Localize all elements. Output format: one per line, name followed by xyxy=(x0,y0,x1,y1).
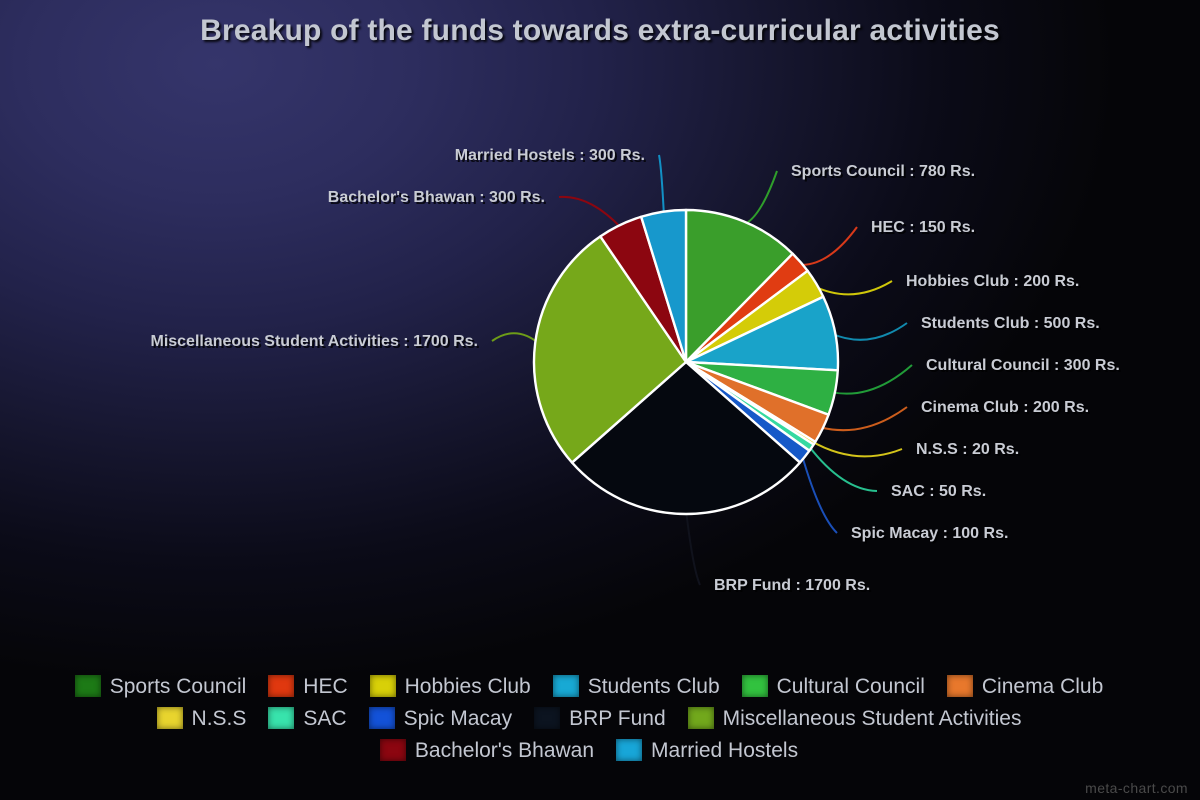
legend-item-bachelor-s-bhawan[interactable]: Bachelor's Bhawan xyxy=(380,736,594,764)
legend-item-brp-fund[interactable]: BRP Fund xyxy=(534,704,666,732)
legend-label-hobbies-club: Hobbies Club xyxy=(405,676,531,697)
leader-line-misc-student xyxy=(492,333,539,343)
pie-slices xyxy=(534,210,838,514)
legend-item-cinema-club[interactable]: Cinema Club xyxy=(947,672,1103,700)
legend-item-sports-council[interactable]: Sports Council xyxy=(75,672,247,700)
legend-label-miscellaneous-student-activities: Miscellaneous Student Activities xyxy=(723,708,1022,729)
legend-swatch-cinema-club xyxy=(947,675,973,697)
watermark: meta-chart.com xyxy=(1085,780,1188,796)
leader-line-brp-fund xyxy=(686,510,700,585)
slice-label-hobbies-club: Hobbies Club : 200 Rs. xyxy=(906,273,1079,290)
leader-line-cinema-club xyxy=(819,407,907,430)
slice-label-bachelors-bhawan: Bachelor's Bhawan : 300 Rs. xyxy=(328,189,545,206)
legend-label-spic-macay: Spic Macay xyxy=(404,708,513,729)
leader-line-hobbies-club xyxy=(813,281,892,294)
slice-label-students-club: Students Club : 500 Rs. xyxy=(921,315,1100,332)
legend-swatch-sac xyxy=(268,707,294,729)
slice-label-cinema-club: Cinema Club : 200 Rs. xyxy=(921,399,1089,416)
legend-item-students-club[interactable]: Students Club xyxy=(553,672,720,700)
leader-line-students-club xyxy=(831,323,907,340)
legend-swatch-miscellaneous-student-activities xyxy=(688,707,714,729)
slice-label-sac: SAC : 50 Rs. xyxy=(891,483,986,500)
legend-label-bachelor-s-bhawan: Bachelor's Bhawan xyxy=(415,740,594,761)
legend-label-students-club: Students Club xyxy=(588,676,720,697)
legend-swatch-spic-macay xyxy=(369,707,395,729)
slice-label-cultural-council: Cultural Council : 300 Rs. xyxy=(926,357,1120,374)
leader-line-sports-council xyxy=(742,171,777,225)
legend-item-n-s-s[interactable]: N.S.S xyxy=(157,704,247,732)
slice-label-married-hostels: Married Hostels : 300 Rs. xyxy=(455,147,645,164)
legend-swatch-married-hostels xyxy=(616,739,642,761)
legend-label-hec: HEC xyxy=(303,676,347,697)
leader-line-cultural-council xyxy=(831,365,912,394)
legend-swatch-bachelor-s-bhawan xyxy=(380,739,406,761)
leader-line-sac xyxy=(808,445,877,491)
legend-item-hobbies-club[interactable]: Hobbies Club xyxy=(370,672,531,700)
legend-swatch-sports-council xyxy=(75,675,101,697)
chart-canvas: Breakup of the funds towards extra-curri… xyxy=(0,0,1200,800)
legend-label-n-s-s: N.S.S xyxy=(192,708,247,729)
legend-label-cultural-council: Cultural Council xyxy=(777,676,925,697)
legend-label-married-hostels: Married Hostels xyxy=(651,740,798,761)
leader-line-spic-macay xyxy=(802,454,837,533)
leader-line-married-hostels xyxy=(659,155,664,216)
legend-swatch-hec xyxy=(268,675,294,697)
chart-legend: Sports CouncilHECHobbies ClubStudents Cl… xyxy=(0,672,1200,764)
legend-item-cultural-council[interactable]: Cultural Council xyxy=(742,672,925,700)
slice-label-nss: N.S.S : 20 Rs. xyxy=(916,441,1019,458)
legend-label-brp-fund: BRP Fund xyxy=(569,708,666,729)
legend-item-miscellaneous-student-activities[interactable]: Miscellaneous Student Activities xyxy=(688,704,1022,732)
slice-label-hec: HEC : 150 Rs. xyxy=(871,219,975,236)
legend-label-cinema-club: Cinema Club xyxy=(982,676,1103,697)
legend-item-married-hostels[interactable]: Married Hostels xyxy=(616,736,798,764)
leader-line-bachelors-bhawan xyxy=(559,197,622,229)
legend-item-hec[interactable]: HEC xyxy=(268,672,347,700)
leader-line-hec xyxy=(797,227,857,265)
legend-item-sac[interactable]: SAC xyxy=(268,704,346,732)
slice-label-sports-council: Sports Council : 780 Rs. xyxy=(791,163,975,180)
legend-swatch-n-s-s xyxy=(157,707,183,729)
slice-label-spic-macay: Spic Macay : 100 Rs. xyxy=(851,525,1008,542)
legend-swatch-hobbies-club xyxy=(370,675,396,697)
legend-swatch-students-club xyxy=(553,675,579,697)
slice-label-brp-fund: BRP Fund : 1700 Rs. xyxy=(714,577,870,594)
legend-label-sports-council: Sports Council xyxy=(110,676,247,697)
legend-swatch-brp-fund xyxy=(534,707,560,729)
legend-item-spic-macay[interactable]: Spic Macay xyxy=(369,704,513,732)
slice-label-misc-student: Miscellaneous Student Activities : 1700 … xyxy=(150,333,478,350)
legend-label-sac: SAC xyxy=(303,708,346,729)
legend-swatch-cultural-council xyxy=(742,675,768,697)
leader-line-nss xyxy=(811,441,902,456)
